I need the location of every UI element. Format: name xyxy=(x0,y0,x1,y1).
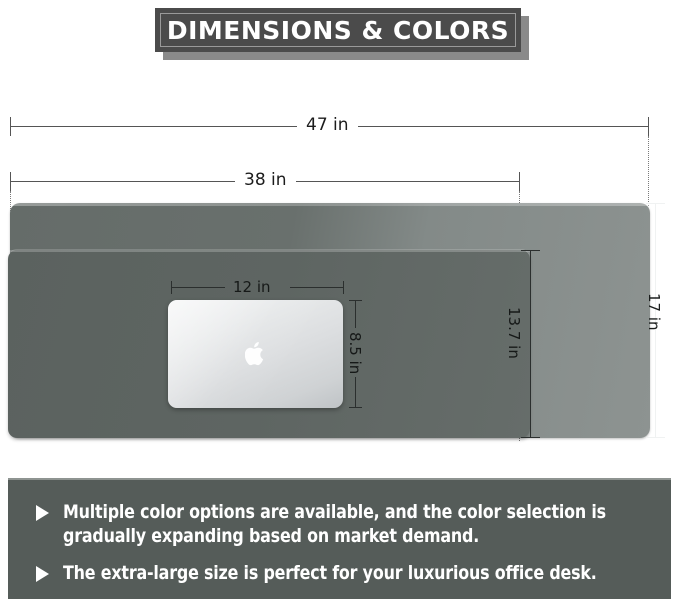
feature-list: Multiple color options are available, an… xyxy=(36,500,651,585)
dimension-line-front-mat-depth xyxy=(530,250,531,438)
triangle-bullet-icon xyxy=(36,505,49,521)
feature-text: Multiple color options are available, an… xyxy=(63,500,610,549)
dimension-tick-top-front-mat-depth xyxy=(521,250,540,251)
dimension-tick-left-overall-width xyxy=(10,117,11,136)
dimension-tick-left-laptop-width xyxy=(171,281,172,294)
dimension-label-overall-depth: 17 in xyxy=(646,293,661,331)
dimension-label-laptop-depth: 8.5 in xyxy=(347,332,362,374)
product-illustration: 12 in 8.5 in 13.7 in 17 in xyxy=(0,195,679,450)
desk-mat-back-highlight xyxy=(10,203,650,206)
desk-mat-front-highlight xyxy=(8,250,530,252)
dimension-tick-left-front-mat-width xyxy=(10,172,11,191)
dimension-line-laptop-width-right xyxy=(290,287,343,288)
page-title: DIMENSIONS & COLORS xyxy=(167,18,509,43)
dimension-tick-bottom-laptop-depth xyxy=(349,407,362,408)
dimension-label-overall-width: 47 in xyxy=(297,117,358,134)
list-item: Multiple color options are available, an… xyxy=(36,500,651,549)
dimension-tick-right-laptop-width xyxy=(343,281,344,294)
dimension-label-front-mat-depth: 13.7 in xyxy=(506,307,521,359)
dimension-tick-bottom-front-mat-depth xyxy=(521,437,540,438)
list-item: The extra-large size is perfect for your… xyxy=(36,561,651,585)
dimension-tick-right-overall-width xyxy=(648,117,649,136)
dimension-label-front-mat-width: 38 in xyxy=(235,172,296,189)
dimension-tick-bottom-overall-depth xyxy=(646,437,665,438)
dimension-line-laptop-depth-bottom xyxy=(355,377,356,407)
triangle-bullet-icon xyxy=(36,566,49,582)
dimension-label-laptop-width: 12 in xyxy=(233,280,271,295)
feature-panel: Multiple color options are available, an… xyxy=(8,478,671,599)
feature-text: The extra-large size is perfect for your… xyxy=(63,561,597,585)
title-banner-body: DIMENSIONS & COLORS xyxy=(155,8,521,52)
dimension-tick-top-laptop-depth xyxy=(349,300,362,301)
apple-logo-icon xyxy=(245,341,267,367)
title-banner: DIMENSIONS & COLORS xyxy=(155,8,521,52)
laptop-macbook xyxy=(168,300,343,408)
dimension-tick-right-front-mat-width xyxy=(519,172,520,191)
dimension-tick-top-overall-depth xyxy=(646,203,665,204)
dimension-line-laptop-depth-top xyxy=(355,300,356,328)
dimension-line-laptop-width-left xyxy=(172,287,225,288)
title-banner-inner-border: DIMENSIONS & COLORS xyxy=(160,13,516,47)
